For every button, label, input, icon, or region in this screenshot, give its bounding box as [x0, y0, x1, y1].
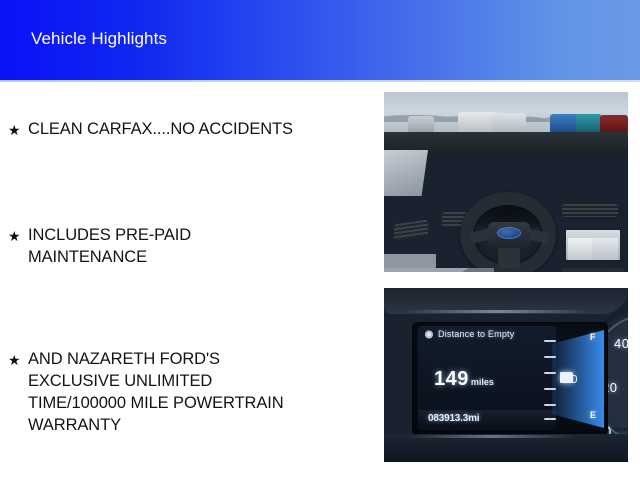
vehicle-photo-instrument-cluster[interactable]: 40 20 0 Distance to Empty 149 miles 0839…	[384, 288, 628, 462]
fuel-gauge-tick	[544, 372, 556, 374]
photo-lower-highlight	[406, 435, 576, 438]
page-header: Vehicle Highlights	[0, 0, 640, 80]
photo-cluster-lower-trim	[384, 434, 628, 462]
star-icon: ★	[8, 224, 28, 247]
range-unit: miles	[471, 377, 494, 387]
list-item: ★ AND NAZARETH FORD'S EXCLUSIVE UNLIMITE…	[8, 348, 372, 436]
photo-side-window	[384, 150, 428, 196]
list-item-label: AND NAZARETH FORD'S EXCLUSIVE UNLIMITED …	[28, 348, 372, 436]
list-item: ★ CLEAN CARFAX....NO ACCIDENTS	[8, 118, 372, 141]
photo-background-car	[492, 113, 526, 132]
vehicle-highlights-page: Vehicle Highlights ★ CLEAN CARFAX....NO …	[0, 0, 640, 480]
instrument-lcd-display: Distance to Empty 149 miles 083913.3mi	[418, 326, 556, 430]
tachometer-label-40: 40	[614, 336, 628, 351]
photo-air-vent	[562, 204, 618, 217]
photo-climate-controls	[562, 268, 624, 272]
list-item-label: CLEAN CARFAX....NO ACCIDENTS	[28, 118, 372, 140]
range-readout: 149 miles	[434, 368, 494, 391]
list-item-label: INCLUDES PRE-PAID MAINTENANCE	[28, 224, 372, 268]
star-icon: ★	[8, 348, 28, 371]
header-divider	[0, 80, 640, 82]
fuel-gauge-tick	[544, 356, 556, 358]
fuel-gauge-full-label: F	[590, 332, 596, 342]
page-title: Vehicle Highlights	[31, 29, 167, 49]
fuel-gauge-tick	[544, 340, 556, 342]
ford-logo-icon	[497, 227, 521, 239]
distance-to-empty-label: Distance to Empty	[438, 329, 514, 339]
photo-background-car	[600, 115, 628, 132]
fuel-gauge-tick	[544, 388, 556, 390]
list-item: ★ INCLUDES PRE-PAID MAINTENANCE	[8, 224, 372, 268]
photo-infotainment-screen	[564, 228, 622, 262]
photo-background-car	[408, 116, 434, 132]
fuel-pump-icon	[560, 372, 573, 383]
distance-to-empty-icon	[424, 330, 434, 339]
fuel-gauge-tick	[544, 404, 556, 406]
range-value: 149	[434, 368, 469, 391]
fuel-gauge-tick	[544, 418, 556, 420]
photo-hood-highlight	[404, 310, 590, 313]
odometer-value: 083913.3mi	[428, 413, 479, 424]
photo-dashboard-body	[384, 150, 628, 272]
vehicle-photo-interior[interactable]	[384, 92, 628, 272]
star-icon: ★	[8, 118, 28, 141]
fuel-gauge-empty-label: E	[590, 410, 596, 420]
photo-background-car	[576, 114, 602, 132]
photo-center-console	[384, 268, 494, 272]
